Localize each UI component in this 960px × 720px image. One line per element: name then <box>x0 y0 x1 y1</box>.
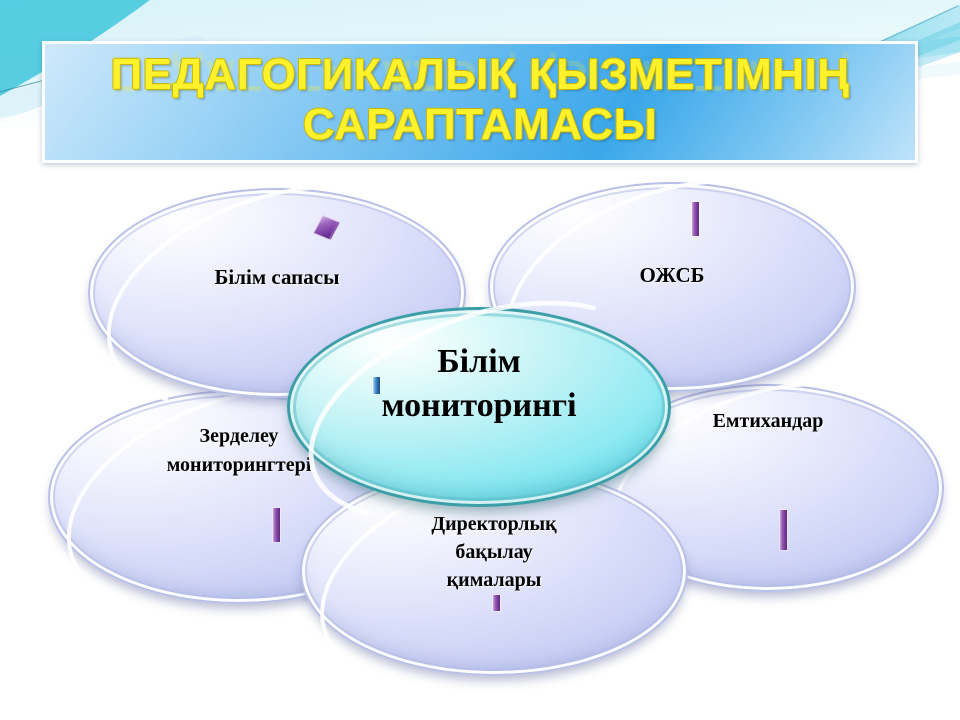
purple-bar-marker-zerdeleu <box>273 508 280 542</box>
center-ellipse-label: Білім мониторингі <box>290 340 668 428</box>
blue-bar-marker <box>373 377 380 394</box>
petal-label-direktorlyq-baqylau: Директорлық бақылау қималары <box>302 510 686 594</box>
purple-bar-marker-ozhsb <box>692 202 699 236</box>
slide-canvas: ПЕДАГОГИКАЛЫҚ ҚЫЗМЕТІМНІҢ САРАПТАМАСЫ ПЕ… <box>0 0 960 720</box>
page-title: ПЕДАГОГИКАЛЫҚ ҚЫЗМЕТІМНІҢ САРАПТАМАСЫ <box>45 50 915 150</box>
purple-bar-marker-direktorlyq <box>493 595 500 611</box>
title-banner: ПЕДАГОГИКАЛЫҚ ҚЫЗМЕТІМНІҢ САРАПТАМАСЫ ПЕ… <box>42 41 918 163</box>
purple-bar-marker-emtihandar <box>780 510 787 550</box>
petal-label-ozhsb: ОЖСБ <box>490 262 854 289</box>
purple-cube-marker <box>314 216 338 239</box>
petal-label-bilim-sapasy: Білім сапасы <box>90 264 464 291</box>
center-ellipse-bilim-monitoringi[interactable]: Білім мониторингі <box>287 307 671 507</box>
